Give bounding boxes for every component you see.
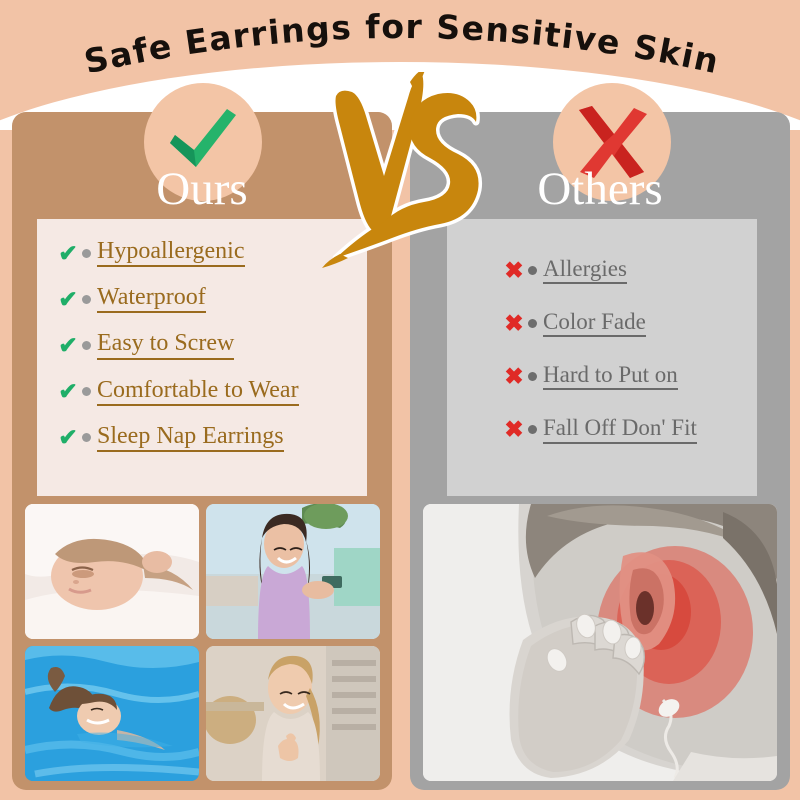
- list-item: ✔ Waterproof: [57, 285, 367, 313]
- list-item-label: Fall Off Don' Fit: [543, 416, 697, 443]
- cross-icon: ✖: [503, 418, 525, 441]
- list-item-label: Hypoallergenic: [97, 239, 245, 267]
- comparison-infographic: Safe Earrings for Sensitive Skin Ours ✔ …: [0, 0, 800, 800]
- check-icon: ✔: [57, 380, 79, 403]
- list-item: ✔ Comfortable to Wear: [57, 378, 367, 406]
- list-item: ✔ Hypoallergenic: [57, 239, 367, 267]
- list-item: ✖ Hard to Put on: [503, 363, 757, 390]
- bullet-dot: [82, 387, 91, 396]
- bullet-dot: [82, 295, 91, 304]
- cross-icon: ✖: [503, 312, 525, 335]
- list-item-label: Comfortable to Wear: [97, 378, 299, 406]
- cross-icon: ✖: [503, 365, 525, 388]
- ours-feature-list: ✔ Hypoallergenic ✔ Waterproof ✔ Easy to …: [37, 219, 367, 496]
- vs-brush-icon: [322, 72, 492, 268]
- list-item: ✔ Easy to Screw: [57, 331, 367, 359]
- bullet-dot: [528, 319, 537, 328]
- bullet-dot: [528, 372, 537, 381]
- others-drawback-list: ✖ Allergies ✖ Color Fade ✖ Hard to Put o…: [447, 219, 757, 496]
- list-item: ✖ Color Fade: [503, 310, 757, 337]
- list-item-label: Allergies: [543, 257, 627, 284]
- check-icon: ✔: [57, 242, 79, 265]
- check-icon: ✔: [57, 426, 79, 449]
- list-item-label: Waterproof: [97, 285, 206, 313]
- page-title-text: Safe Earrings for Sensitive Skin: [81, 7, 723, 81]
- list-item-label: Hard to Put on: [543, 363, 678, 390]
- woman-sleeping-photo: [25, 504, 199, 639]
- check-icon: ✔: [57, 334, 79, 357]
- bullet-dot: [82, 433, 91, 442]
- list-item-label: Color Fade: [543, 310, 646, 337]
- bullet-dot: [82, 249, 91, 258]
- woman-with-phone-photo: [206, 504, 380, 639]
- irritated-ear-photo: [423, 504, 777, 781]
- woman-swimming-photo: [25, 646, 199, 781]
- bullet-dot: [528, 425, 537, 434]
- check-icon: ✔: [57, 288, 79, 311]
- woman-jogging-photo: [206, 646, 380, 781]
- vs-graphic: [322, 72, 492, 268]
- svg-text:Safe Earrings for Sensitive Sk: Safe Earrings for Sensitive Skin: [81, 7, 723, 81]
- list-item: ✖ Allergies: [503, 257, 757, 284]
- list-item-label: Easy to Screw: [97, 331, 234, 359]
- list-item-label: Sleep Nap Earrings: [97, 424, 284, 452]
- bullet-dot: [82, 341, 91, 350]
- bullet-dot: [528, 266, 537, 275]
- cross-icon: ✖: [503, 259, 525, 282]
- list-item: ✔ Sleep Nap Earrings: [57, 424, 367, 452]
- ours-photo-grid: [25, 504, 380, 781]
- list-item: ✖ Fall Off Don' Fit: [503, 416, 757, 443]
